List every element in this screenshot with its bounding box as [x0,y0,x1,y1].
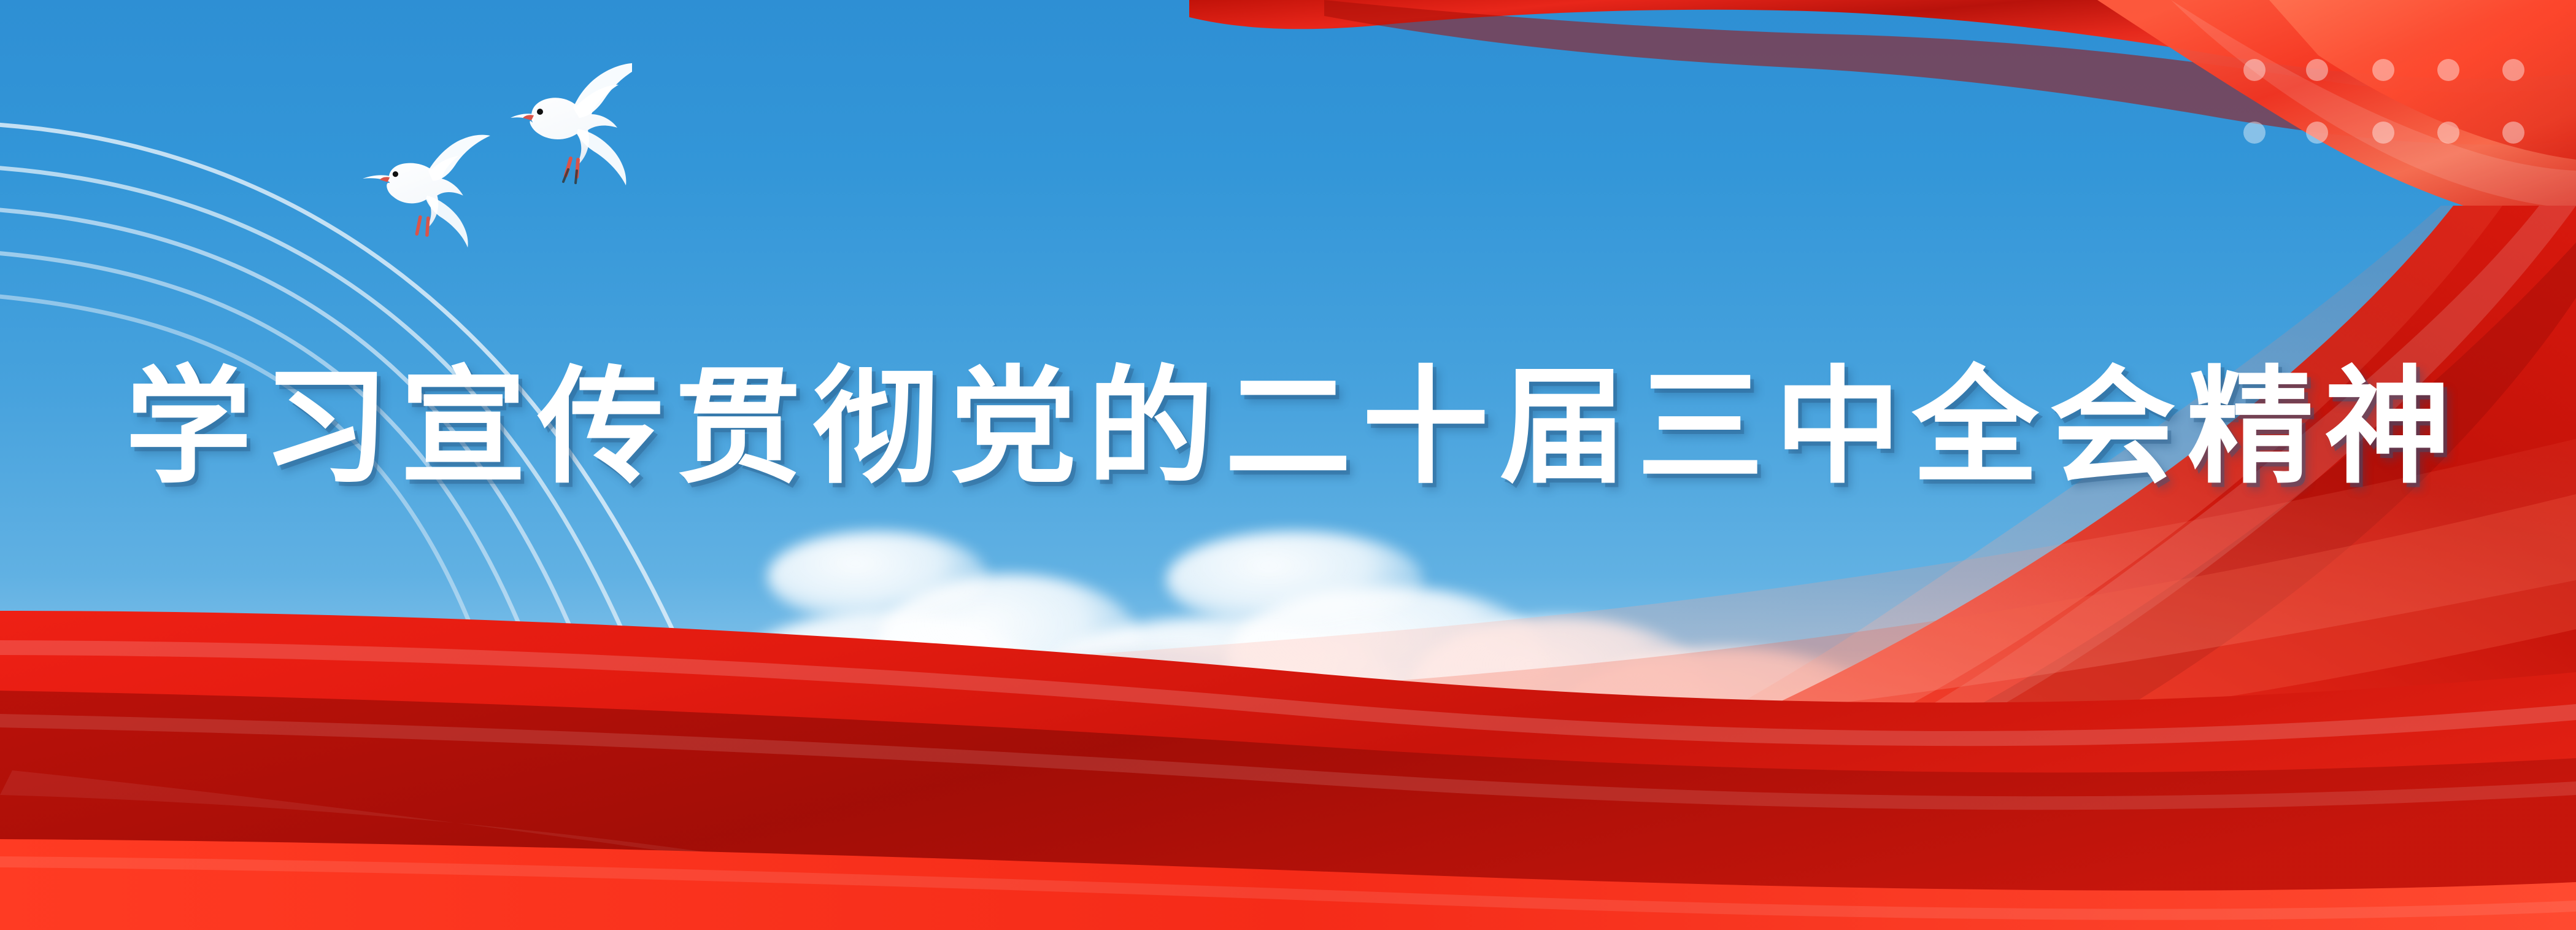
peace-dove [363,135,490,248]
decorative-dot [2243,59,2266,81]
red-silk-wave-bottom [0,427,2576,930]
decorative-dot [2502,59,2524,81]
decorative-dot [2372,122,2394,144]
decorative-dot [2306,59,2328,81]
propaganda-banner: 学习宣传贯彻党的二十届三中全会精神 [0,0,2576,930]
decorative-dot-grid [2232,0,2576,147]
decorative-dot [2437,122,2459,144]
decorative-dot [2306,122,2328,144]
dove-group [350,37,632,252]
decorative-dot [2502,122,2524,144]
peace-dove [511,63,632,186]
decorative-dot [2372,59,2394,81]
decorative-dot [2437,59,2459,81]
decorative-dot [2243,122,2266,144]
